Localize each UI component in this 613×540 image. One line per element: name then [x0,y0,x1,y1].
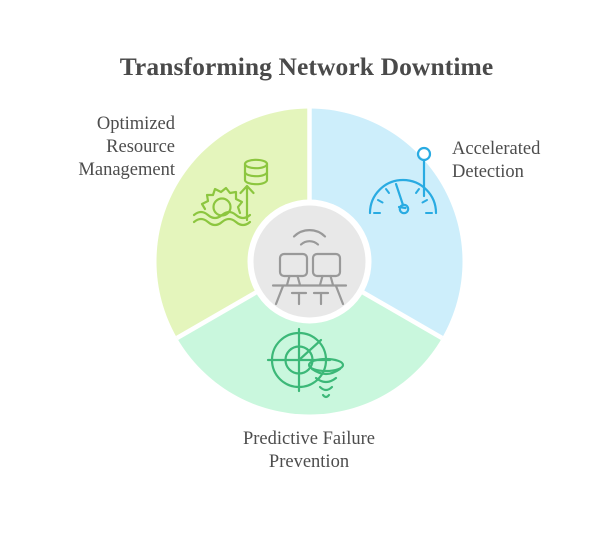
label-line: Predictive Failure [183,428,435,451]
label-line: Accelerated [452,138,612,161]
label-line: Prevention [183,451,435,474]
label-line: Resource [10,136,175,159]
label-optimized-resource-management: Optimized Resource Management [10,113,175,182]
label-accelerated-detection: Accelerated Detection [452,138,612,184]
label-line: Management [10,159,175,182]
label-line: Optimized [10,113,175,136]
label-line: Detection [452,161,612,184]
page-title: Transforming Network Downtime [0,52,613,82]
pin-head [418,148,430,160]
infographic-page: Transforming Network Downtime [0,0,613,540]
donut-diagram [156,108,463,415]
donut-chart-svg [156,108,463,415]
label-predictive-failure-prevention: Predictive Failure Prevention [183,428,435,474]
center-hub-circle[interactable] [254,206,366,318]
